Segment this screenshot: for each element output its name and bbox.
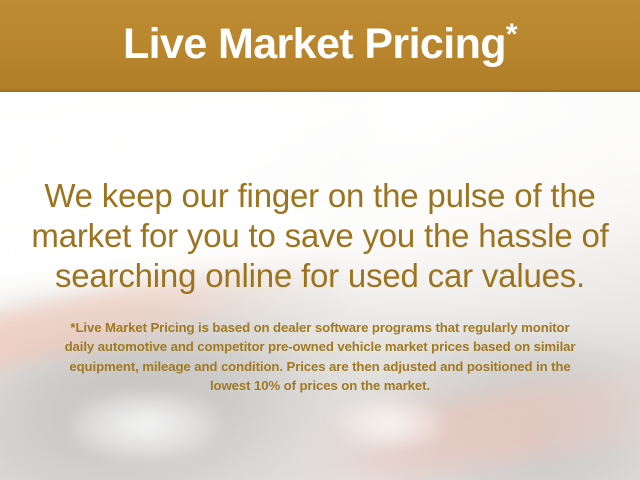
disclaimer-line-4: lowest 10% of prices on the market.: [0, 376, 640, 395]
disclaimer-block: *Live Market Pricing is based on dealer …: [0, 318, 640, 396]
headline-line-3: searching online for used car values.: [0, 256, 640, 296]
headline-line-1: We keep our finger on the pulse of the: [0, 176, 640, 216]
page-title-text: Live Market Pricing: [123, 20, 506, 68]
disclaimer-line-2: daily automotive and competitor pre-owne…: [0, 337, 640, 356]
disclaimer-line-1: *Live Market Pricing is based on dealer …: [0, 318, 640, 337]
page-title-asterisk: *: [506, 18, 517, 51]
page-title: Live Market Pricing*: [123, 23, 517, 66]
live-market-pricing-graphic: Live Market Pricing* We keep our finger …: [0, 0, 640, 480]
headline-block: We keep our finger on the pulse of the m…: [0, 176, 640, 296]
headline-line-2: market for you to save you the hassle of: [0, 216, 640, 256]
header-banner: Live Market Pricing*: [0, 0, 640, 92]
disclaimer-line-3: equipment, mileage and condition. Prices…: [0, 357, 640, 376]
